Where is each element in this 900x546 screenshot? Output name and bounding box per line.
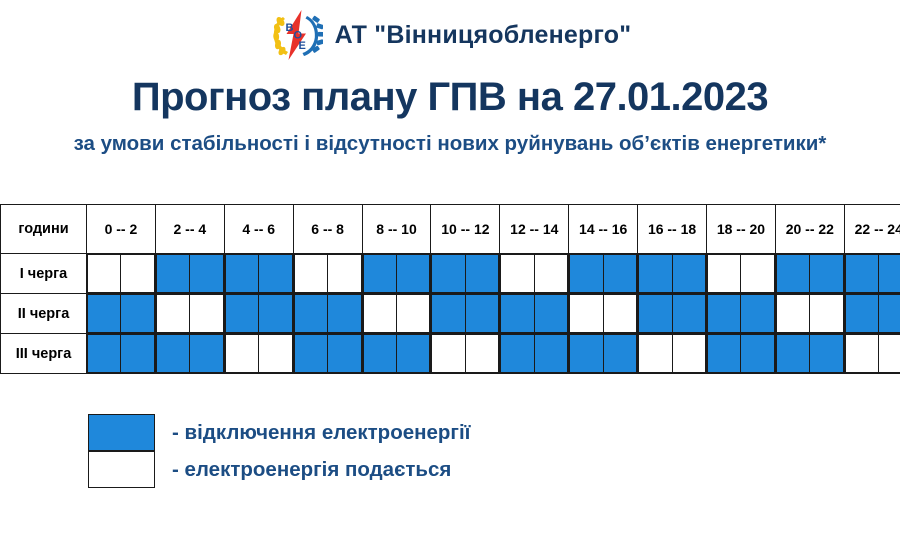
schedule-cell-2-18	[708, 335, 741, 373]
schedule-column-group	[638, 294, 707, 334]
schedule-cell-1-3	[190, 295, 223, 333]
hour-header-8: 16 -- 18	[638, 205, 707, 254]
schedule-column-group	[87, 294, 156, 334]
schedule-column-group	[638, 334, 707, 374]
legend-item-supplied: - електроенергія подається	[88, 451, 470, 488]
schedule-column-group	[87, 254, 156, 294]
schedule-cell-0-0	[88, 255, 121, 293]
schedule-column-group	[362, 254, 431, 294]
schedule-cell-0-5	[259, 255, 292, 293]
schedule-cell-0-23	[879, 255, 900, 293]
schedule-cell-2-7	[328, 335, 361, 373]
schedule-cell-1-2	[156, 295, 189, 333]
schedule-column-group	[155, 294, 224, 334]
schedule-cell-0-16	[639, 255, 672, 293]
hour-header-0: 0 -- 2	[87, 205, 156, 254]
schedule-cell-1-12	[501, 295, 534, 333]
schedule-cell-2-4	[225, 335, 258, 373]
schedule-cell-2-15	[603, 335, 636, 373]
schedule-cell-0-6	[294, 255, 327, 293]
schedule-cell-0-3	[190, 255, 223, 293]
schedule-column-group	[569, 294, 638, 334]
schedule-cell-1-17	[672, 295, 705, 333]
legend-swatch-supplied-icon	[88, 451, 155, 488]
schedule-column-group	[431, 334, 500, 374]
schedule-column-group	[638, 254, 707, 294]
schedule-column-group	[707, 294, 776, 334]
schedule-cell-2-9	[397, 335, 430, 373]
schedule-cell-0-14	[570, 255, 603, 293]
schedule-cell-2-8	[363, 335, 396, 373]
schedule-cell-0-1	[121, 255, 154, 293]
schedule-cell-1-10	[432, 295, 465, 333]
table-row: I черга	[1, 254, 900, 294]
schedule-cell-0-2	[156, 255, 189, 293]
hour-header-4: 8 -- 10	[362, 205, 431, 254]
svg-text:E: E	[298, 40, 305, 52]
schedule-cell-2-6	[294, 335, 327, 373]
hour-header-6: 12 -- 14	[500, 205, 569, 254]
schedule-cell-2-17	[672, 335, 705, 373]
schedule-cell-2-2	[156, 335, 189, 373]
schedule-column-group	[431, 254, 500, 294]
schedule-column-group	[155, 334, 224, 374]
hour-header-10: 20 -- 22	[775, 205, 844, 254]
schedule-cell-2-20	[776, 335, 809, 373]
table-row: II черга	[1, 294, 900, 334]
queue-label: III черга	[1, 334, 87, 374]
schedule-column-group	[775, 334, 844, 374]
schedule-cell-0-12	[501, 255, 534, 293]
hour-header-9: 18 -- 20	[707, 205, 776, 254]
legend-swatch-outage-icon	[88, 414, 155, 451]
schedule-cell-0-9	[397, 255, 430, 293]
schedule-cell-1-6	[294, 295, 327, 333]
schedule-cell-2-3	[190, 335, 223, 373]
page-subtitle: за умови стабільності і відсутності нови…	[0, 132, 900, 156]
schedule-column-group	[707, 254, 776, 294]
schedule-column-group	[569, 254, 638, 294]
schedule-cell-1-19	[741, 295, 774, 333]
schedule-column-group	[431, 294, 500, 334]
hour-header-5: 10 -- 12	[431, 205, 500, 254]
schedule-cell-1-11	[465, 295, 498, 333]
schedule-cell-2-1	[121, 335, 154, 373]
schedule-cell-2-11	[465, 335, 498, 373]
schedule-cell-1-7	[328, 295, 361, 333]
schedule-column-group	[362, 294, 431, 334]
schedule-cell-1-13	[534, 295, 567, 333]
queue-label: I черга	[1, 254, 87, 294]
legend: - відключення електроенергії - електроен…	[88, 414, 470, 488]
hour-header-7: 14 -- 16	[569, 205, 638, 254]
schedule-column-group	[844, 254, 900, 294]
schedule-column-group	[844, 294, 900, 334]
legend-label-outage: - відключення електроенергії	[172, 421, 470, 445]
schedule-cell-0-21	[810, 255, 843, 293]
schedule-cell-0-4	[225, 255, 258, 293]
schedule-cell-2-19	[741, 335, 774, 373]
vinnytsiaoblenergo-logo-icon: B O E	[269, 8, 323, 62]
schedule-cell-2-12	[501, 335, 534, 373]
schedule-cell-2-16	[639, 335, 672, 373]
schedule-column-group	[500, 334, 569, 374]
schedule-column-group	[293, 334, 362, 374]
schedule-cell-1-9	[397, 295, 430, 333]
schedule-body: I чергаII чергаIII черга	[1, 254, 900, 374]
brand-name: АТ "Вінницяобленерго"	[335, 21, 632, 50]
schedule-column-group	[224, 294, 293, 334]
schedule-column-group	[293, 294, 362, 334]
schedule-cell-1-20	[776, 295, 809, 333]
schedule-column-group	[775, 294, 844, 334]
schedule-column-group	[362, 334, 431, 374]
legend-label-supplied: - електроенергія подається	[172, 458, 451, 482]
schedule-column-group	[500, 294, 569, 334]
svg-text:B: B	[285, 22, 293, 34]
schedule-column-group	[224, 254, 293, 294]
schedule-cell-1-8	[363, 295, 396, 333]
hours-column-header: години	[1, 205, 87, 254]
schedule-cell-0-11	[465, 255, 498, 293]
schedule-column-group	[707, 334, 776, 374]
schedule-cell-0-22	[845, 255, 878, 293]
schedule-cell-1-22	[845, 295, 878, 333]
schedule-cell-1-0	[88, 295, 121, 333]
legend-item-outage: - відключення електроенергії	[88, 414, 470, 451]
schedule-cell-2-21	[810, 335, 843, 373]
schedule-cell-0-13	[534, 255, 567, 293]
table-row: III черга	[1, 334, 900, 374]
schedule-cell-2-22	[845, 335, 878, 373]
queue-label: II черга	[1, 294, 87, 334]
schedule-cell-1-16	[639, 295, 672, 333]
schedule-cell-2-14	[570, 335, 603, 373]
hour-header-3: 6 -- 8	[293, 205, 362, 254]
schedule-cell-0-17	[672, 255, 705, 293]
schedule-column-group	[844, 334, 900, 374]
schedule-cell-1-21	[810, 295, 843, 333]
outage-schedule-table: години 0 -- 2 2 -- 4 4 -- 6 6 -- 8 8 -- …	[0, 204, 900, 374]
schedule-cell-0-10	[432, 255, 465, 293]
table-header-row: години 0 -- 2 2 -- 4 4 -- 6 6 -- 8 8 -- …	[1, 205, 900, 254]
schedule-cell-2-10	[432, 335, 465, 373]
schedule-cell-1-4	[225, 295, 258, 333]
schedule-column-group	[155, 254, 224, 294]
schedule-cell-2-13	[534, 335, 567, 373]
hour-header-1: 2 -- 4	[155, 205, 224, 254]
schedule-column-group	[775, 254, 844, 294]
schedule-cell-2-23	[879, 335, 900, 373]
schedule-column-group	[87, 334, 156, 374]
schedule-column-group	[500, 254, 569, 294]
schedule-table-container: години 0 -- 2 2 -- 4 4 -- 6 6 -- 8 8 -- …	[0, 204, 900, 374]
schedule-cell-0-15	[603, 255, 636, 293]
schedule-cell-0-18	[708, 255, 741, 293]
schedule-cell-0-8	[363, 255, 396, 293]
schedule-cell-1-23	[879, 295, 900, 333]
schedule-cell-0-7	[328, 255, 361, 293]
schedule-cell-2-0	[88, 335, 121, 373]
schedule-column-group	[224, 334, 293, 374]
schedule-cell-1-1	[121, 295, 154, 333]
schedule-cell-0-19	[741, 255, 774, 293]
schedule-cell-1-5	[259, 295, 292, 333]
brand-header: B O E АТ "Вінницяобленерго"	[0, 0, 900, 58]
schedule-cell-0-20	[776, 255, 809, 293]
schedule-cell-1-14	[570, 295, 603, 333]
schedule-column-group	[569, 334, 638, 374]
schedule-cell-2-5	[259, 335, 292, 373]
hour-header-2: 4 -- 6	[224, 205, 293, 254]
schedule-cell-1-15	[603, 295, 636, 333]
hour-header-11: 22 -- 24	[844, 205, 900, 254]
page-title: Прогноз плану ГПВ на 27.01.2023	[0, 75, 900, 120]
schedule-column-group	[293, 254, 362, 294]
schedule-cell-1-18	[708, 295, 741, 333]
